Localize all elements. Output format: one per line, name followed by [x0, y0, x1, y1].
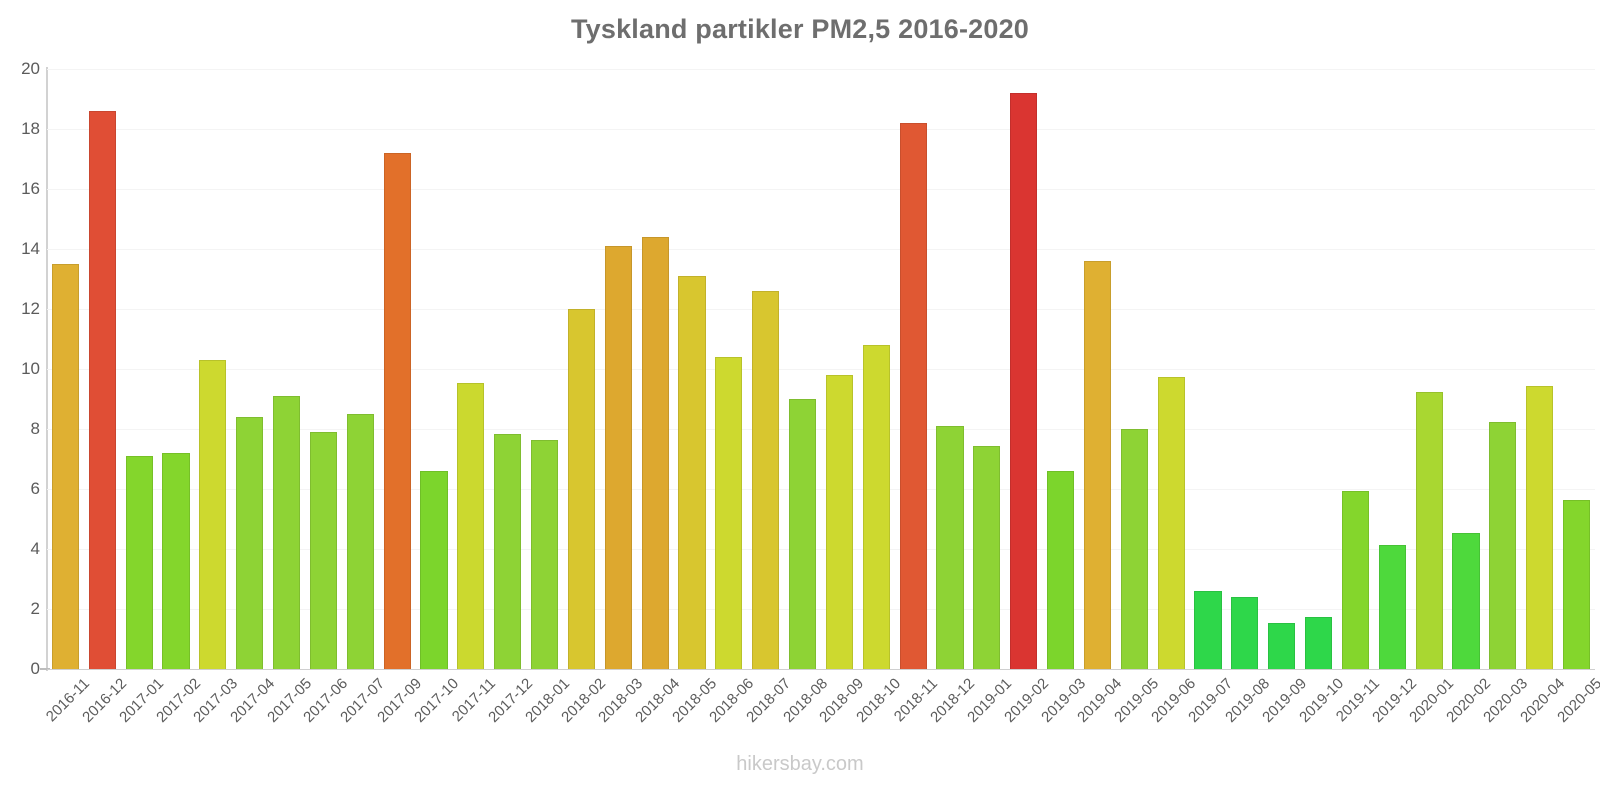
- bar[interactable]: [1563, 500, 1590, 670]
- y-axis-tick-label: 18: [0, 119, 40, 139]
- bar[interactable]: [752, 291, 779, 669]
- bar[interactable]: [826, 375, 853, 669]
- bar[interactable]: [678, 276, 705, 669]
- bar[interactable]: [273, 396, 300, 669]
- bar[interactable]: [494, 434, 521, 670]
- plot-area: [47, 69, 1595, 669]
- bar[interactable]: [531, 440, 558, 670]
- bar[interactable]: [420, 471, 447, 669]
- y-axis-tick-label: 2: [0, 599, 40, 619]
- watermark: hikersbay.com: [0, 753, 1600, 776]
- bar[interactable]: [789, 399, 816, 669]
- y-axis-tick-label: 6: [0, 479, 40, 499]
- y-axis-tick-labels: 02468101214161820: [0, 69, 40, 669]
- bar[interactable]: [89, 111, 116, 669]
- y-axis-tick-label: 10: [0, 359, 40, 379]
- bar[interactable]: [199, 360, 226, 669]
- y-axis-tick-label: 16: [0, 179, 40, 199]
- y-axis-tick-label: 20: [0, 59, 40, 79]
- bar[interactable]: [347, 414, 374, 669]
- y-axis-tick-label: 4: [0, 539, 40, 559]
- y-axis-tick-label: 8: [0, 419, 40, 439]
- bar[interactable]: [1010, 93, 1037, 669]
- bar[interactable]: [1526, 386, 1553, 670]
- bar[interactable]: [1194, 591, 1221, 669]
- bar[interactable]: [1231, 597, 1258, 669]
- bar[interactable]: [605, 246, 632, 669]
- bar[interactable]: [52, 264, 79, 669]
- bar[interactable]: [1158, 377, 1185, 670]
- bar[interactable]: [1452, 533, 1479, 670]
- bar[interactable]: [1047, 471, 1074, 669]
- y-axis-tick-label: 14: [0, 239, 40, 259]
- bar[interactable]: [1268, 623, 1295, 670]
- bar[interactable]: [1121, 429, 1148, 669]
- bar[interactable]: [236, 417, 263, 669]
- bar[interactable]: [973, 446, 1000, 670]
- bar-series: [47, 69, 1595, 669]
- bar[interactable]: [568, 309, 595, 669]
- bar[interactable]: [1305, 617, 1332, 670]
- bar[interactable]: [457, 383, 484, 670]
- bar[interactable]: [1342, 491, 1369, 670]
- bar[interactable]: [310, 432, 337, 669]
- bar[interactable]: [1489, 422, 1516, 670]
- pm25-bar-chart: Tyskland partikler PM2,5 2016-2020 02468…: [0, 0, 1600, 800]
- bar[interactable]: [162, 453, 189, 669]
- bar[interactable]: [384, 153, 411, 669]
- bar[interactable]: [863, 345, 890, 669]
- bar[interactable]: [936, 426, 963, 669]
- bar[interactable]: [900, 123, 927, 669]
- bar[interactable]: [1084, 261, 1111, 669]
- bar[interactable]: [1379, 545, 1406, 670]
- y-axis-tick-label: 0: [0, 659, 40, 679]
- bar[interactable]: [715, 357, 742, 669]
- bar[interactable]: [126, 456, 153, 669]
- y-axis-tick-label: 12: [0, 299, 40, 319]
- chart-title: Tyskland partikler PM2,5 2016-2020: [0, 14, 1600, 45]
- bar[interactable]: [1416, 392, 1443, 670]
- bar[interactable]: [642, 237, 669, 669]
